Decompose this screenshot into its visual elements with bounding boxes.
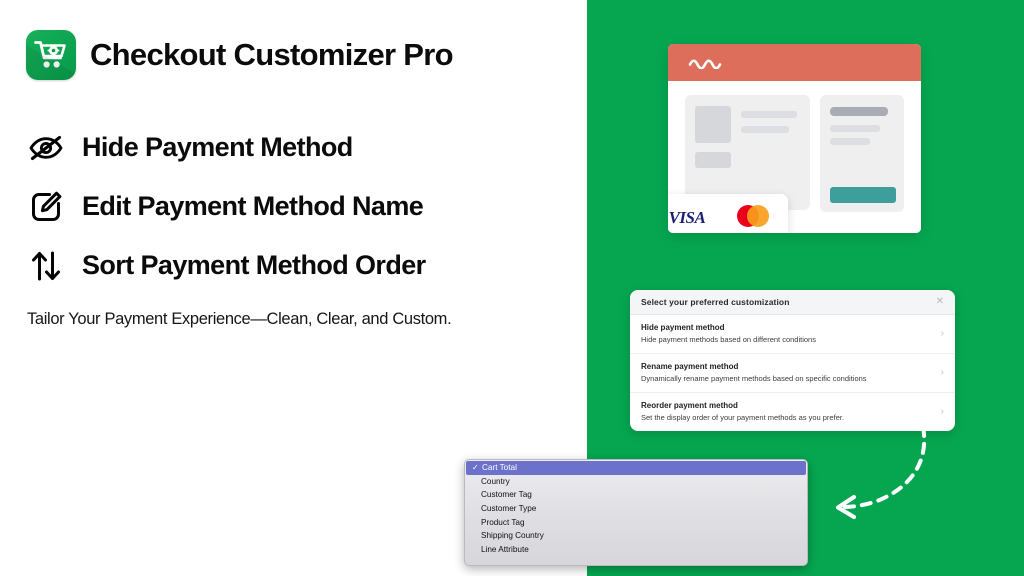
eye-off-icon [26,128,66,168]
product-thumbnail-placeholder-2 [695,152,731,168]
product-thumbnail-placeholder [695,106,731,143]
brand-header: Checkout Customizer Pro [26,30,453,80]
chevron-right-icon: › [941,368,944,378]
option-title: Hide payment method [641,323,816,332]
dropdown-option-label: Customer Tag [481,490,532,499]
option-title: Reorder payment method [641,401,844,410]
feature-item-hide: Hide Payment Method [26,118,426,177]
text-line-placeholder [741,111,797,118]
heading-placeholder [830,107,888,116]
visa-logo: VISA [669,208,706,228]
feature-label: Edit Payment Method Name [82,191,423,222]
text-line-placeholder [830,138,870,145]
dropdown-option-label: Line Attribute [481,545,529,554]
tagline: Tailor Your Payment Experience—Clean, Cl… [27,310,451,329]
condition-select-dropdown[interactable]: ✓ Cart Total Country Customer Tag Custom… [464,459,808,566]
dropdown-option-label: Shipping Country [481,531,544,540]
dropdown-option-cart-total[interactable]: ✓ Cart Total [466,461,806,475]
chevron-right-icon: › [941,329,944,339]
feature-item-sort: Sort Payment Method Order [26,236,426,295]
payment-methods-card: VISA [668,194,788,233]
feature-label: Hide Payment Method [82,132,353,163]
text-line-placeholder [741,126,789,133]
place-order-button-placeholder[interactable] [830,187,896,203]
option-description: Hide payment methods based on different … [641,335,816,344]
dropdown-option-label: Customer Type [481,504,536,513]
close-icon[interactable]: ✕ [936,297,944,307]
customization-option-rename[interactable]: Rename payment method Dynamically rename… [630,354,955,393]
shopping-cart-gear-icon [26,30,76,80]
feature-item-edit: Edit Payment Method Name [26,177,426,236]
promo-banner: Checkout Customizer Pro Hide Payment Met… [0,0,1024,576]
dropdown-option-customer-type[interactable]: Customer Type [465,502,807,516]
dropdown-option-customer-tag[interactable]: Customer Tag [465,488,807,502]
feature-label: Sort Payment Method Order [82,250,426,281]
order-summary-placeholder [685,95,810,210]
checkout-browser-mockup: VISA [668,44,921,233]
dropdown-option-label: Country [481,477,510,486]
option-title: Rename payment method [641,362,867,371]
dropdown-option-shipping-country[interactable]: Shipping Country [465,529,807,543]
edit-pencil-square-icon [26,187,66,227]
check-icon: ✓ [472,463,482,472]
dashed-curved-arrow-icon [805,415,945,530]
dropdown-option-label: Cart Total [482,463,517,472]
page-title: Checkout Customizer Pro [90,37,453,73]
browser-content: VISA [668,81,921,233]
dropdown-option-country[interactable]: Country [465,475,807,489]
dropdown-option-product-tag[interactable]: Product Tag [465,515,807,529]
feature-list: Hide Payment Method Edit Payment Method … [26,118,426,295]
payment-form-placeholder [820,95,904,212]
squiggle-logo-icon [688,56,728,74]
customization-option-hide[interactable]: Hide payment method Hide payment methods… [630,315,955,354]
dropdown-option-label: Product Tag [481,518,525,527]
browser-title-bar [668,44,921,81]
customization-card-title: Select your preferred customization [641,297,790,307]
logo-shine [26,30,76,80]
mastercard-icon [732,203,774,234]
text-line-placeholder [830,125,880,132]
dropdown-option-line-attribute[interactable]: Line Attribute [465,543,807,557]
customization-card-header: Select your preferred customization ✕ [630,290,955,315]
customization-card: Select your preferred customization ✕ Hi… [630,290,955,431]
option-description: Dynamically rename payment methods based… [641,374,867,383]
sort-arrows-up-down-icon [26,246,66,286]
